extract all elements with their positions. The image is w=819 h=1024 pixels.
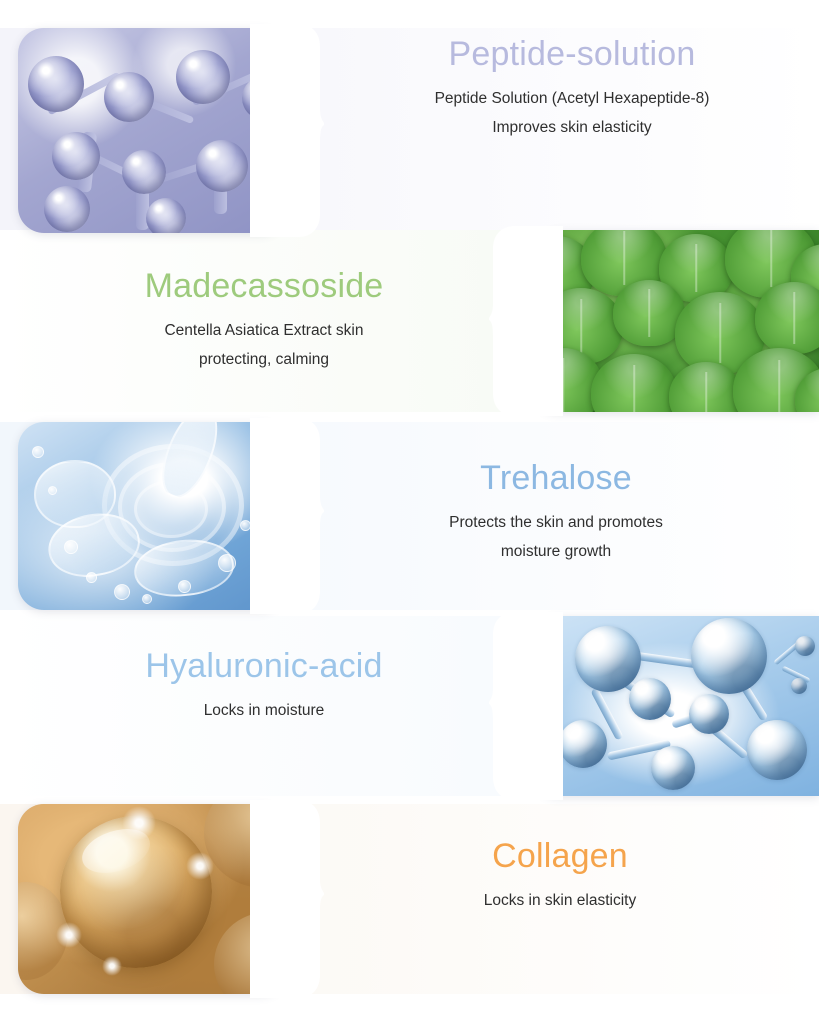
image-frame bbox=[18, 804, 286, 994]
ingredient-description: Peptide Solution (Acetyl Hexapeptide-8) … bbox=[352, 85, 792, 142]
ingredient-description: Locks in moisture bbox=[44, 697, 484, 726]
image-card-blue-gel-serum-photo bbox=[18, 422, 286, 610]
description-line: Peptide Solution (Acetyl Hexapeptide-8) bbox=[352, 85, 792, 114]
text-block-trehalose: Trehalose Protects the skin and promotes… bbox=[336, 460, 776, 567]
ingredient-title: Peptide-solution bbox=[352, 36, 792, 73]
ingredient-description: Locks in skin elasticity bbox=[340, 887, 780, 916]
image-card-hyaluronic-molecule-photo bbox=[533, 616, 819, 796]
description-line: moisture growth bbox=[336, 538, 776, 567]
image-card-peptide-molecule-photo bbox=[18, 28, 286, 233]
description-line: protecting, calming bbox=[44, 346, 484, 375]
description-line: Protects the skin and promotes bbox=[336, 509, 776, 538]
ingredient-row-hyaluronic-acid: Hyaluronic-acid Locks in moisture bbox=[0, 616, 819, 796]
golden-collagen-bubble-photo bbox=[18, 804, 286, 994]
image-card-golden-collagen-bubble-photo bbox=[18, 804, 286, 994]
ingredient-title: Madecassoside bbox=[44, 268, 484, 305]
ingredient-row-collagen: Collagen Locks in skin elasticity bbox=[0, 804, 819, 994]
text-block-madecassoside: Madecassoside Centella Asiatica Extract … bbox=[44, 268, 484, 375]
hyaluronic-molecule-photo bbox=[533, 616, 819, 796]
description-line: Centella Asiatica Extract skin bbox=[44, 317, 484, 346]
ingredient-row-trehalose: Trehalose Protects the skin and promotes… bbox=[0, 422, 819, 610]
ingredient-description: Protects the skin and promotes moisture … bbox=[336, 509, 776, 566]
image-frame bbox=[18, 422, 286, 610]
image-frame bbox=[533, 616, 819, 796]
peptide-molecule-photo bbox=[18, 28, 286, 233]
text-block-hyaluronic-acid: Hyaluronic-acid Locks in moisture bbox=[44, 648, 484, 726]
ingredient-title: Hyaluronic-acid bbox=[44, 648, 484, 685]
ingredients-infographic: Peptide-solution Peptide Solution (Acety… bbox=[0, 0, 819, 1024]
image-card-centella-asiatica-leaves-photo bbox=[533, 230, 819, 412]
centella-asiatica-leaves-photo bbox=[533, 230, 819, 412]
ingredient-row-madecassoside: Madecassoside Centella Asiatica Extract … bbox=[0, 230, 819, 412]
text-block-collagen: Collagen Locks in skin elasticity bbox=[340, 838, 780, 916]
image-frame bbox=[533, 230, 819, 412]
ingredient-title: Collagen bbox=[340, 838, 780, 875]
blue-gel-serum-photo bbox=[18, 422, 286, 610]
description-line: Locks in moisture bbox=[44, 697, 484, 726]
ingredient-description: Centella Asiatica Extract skin protectin… bbox=[44, 317, 484, 374]
ingredient-row-peptide-solution: Peptide-solution Peptide Solution (Acety… bbox=[0, 28, 819, 233]
image-frame bbox=[18, 28, 286, 233]
description-line: Locks in skin elasticity bbox=[340, 887, 780, 916]
text-block-peptide-solution: Peptide-solution Peptide Solution (Acety… bbox=[352, 36, 792, 143]
description-line: Improves skin elasticity bbox=[352, 114, 792, 143]
ingredient-title: Trehalose bbox=[336, 460, 776, 497]
